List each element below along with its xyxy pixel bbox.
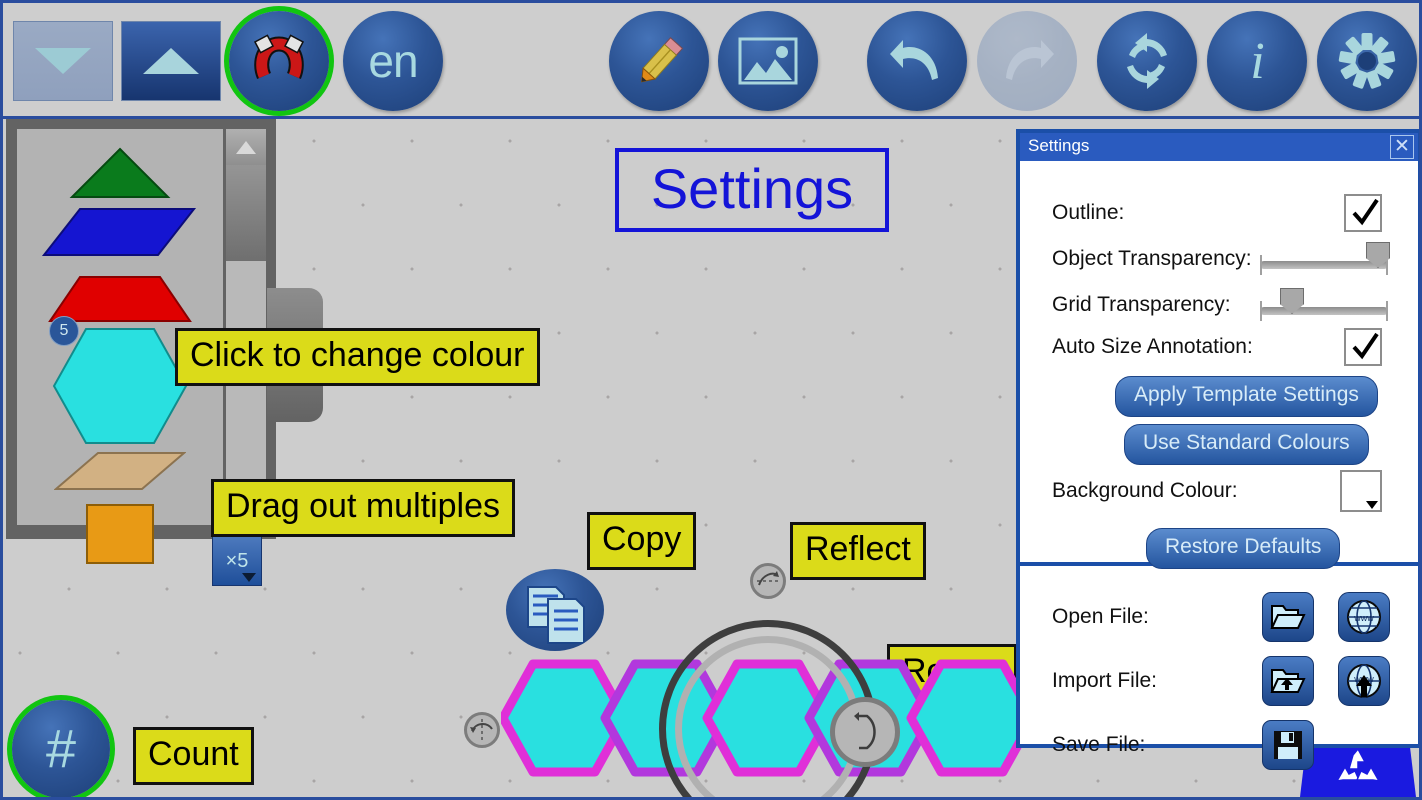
globe-upload-icon: www (1345, 662, 1383, 700)
svg-text:www: www (1353, 613, 1374, 623)
shape-count-badge[interactable]: 5 (49, 316, 79, 346)
shape-rhombus-tan[interactable] (17, 451, 223, 491)
shape-rhombus-blue[interactable] (17, 207, 223, 257)
chevron-down-icon (242, 573, 256, 582)
nav-up-button[interactable] (121, 21, 221, 101)
thin-rhombus-icon (54, 451, 186, 491)
settings-button[interactable] (1317, 11, 1417, 111)
folder-import-icon (1270, 666, 1306, 696)
settings-panel: Settings ✕ Outline: Object Transparency: (1016, 129, 1422, 748)
open-file-label: Open File: (1052, 605, 1149, 629)
multiplier-label: ×5 (226, 550, 249, 573)
hexagon-icon (52, 327, 188, 445)
count-button[interactable]: # (12, 700, 110, 798)
annotation-copy[interactable]: Copy (587, 512, 696, 570)
setting-row-background-colour: Background Colour: (1052, 471, 1404, 511)
floppy-disk-icon-button[interactable] (1262, 720, 1314, 770)
settings-title-label: Settings (1028, 136, 1089, 155)
redo-arrow-icon (998, 32, 1056, 90)
object-transparency-slider[interactable] (1260, 242, 1388, 276)
shape-trapezoid-red[interactable] (17, 275, 223, 323)
magnet-button[interactable] (229, 11, 329, 111)
copy-icon (506, 569, 604, 651)
settings-titlebar: Settings ✕ (1020, 133, 1418, 161)
shape-square-orange[interactable] (17, 503, 223, 565)
use-standard-colours-button[interactable]: Use Standard Colours (1124, 424, 1369, 465)
copy-button[interactable] (506, 569, 604, 651)
auto-size-annotation-label: Auto Size Annotation: (1052, 335, 1253, 359)
triangle-down-icon (35, 48, 91, 74)
globe-upload-icon-button[interactable]: www (1338, 656, 1390, 706)
background-colour-swatch[interactable] (1340, 470, 1382, 512)
application-window: en (0, 0, 1422, 800)
reflect-handle-top[interactable] (750, 563, 786, 599)
file-row-save: Save File: (1052, 720, 1404, 770)
grid-transparency-slider[interactable] (1260, 288, 1388, 322)
undo-button[interactable] (867, 11, 967, 111)
background-colour-label: Background Colour: (1052, 479, 1238, 503)
slider-tick-max (1386, 301, 1388, 321)
annotation-drag-multiples[interactable]: Drag out multiples (211, 479, 515, 537)
annotation-click-colour[interactable]: Click to change colour (175, 328, 540, 386)
scrollbar-thumb[interactable] (226, 165, 266, 261)
setting-row-grid-transparency: Grid Transparency: (1052, 285, 1404, 325)
restore-defaults-button[interactable]: Restore Defaults (1146, 528, 1340, 569)
magnet-icon (250, 32, 308, 90)
language-label: en (368, 34, 417, 88)
shape-palette-list (17, 129, 223, 525)
info-button[interactable]: i (1207, 11, 1307, 111)
reflect-handle-left[interactable] (464, 712, 500, 748)
reflect-arrow-icon (467, 715, 497, 745)
settings-body: Outline: Object Transparency: (1020, 161, 1418, 566)
image-icon (737, 35, 799, 87)
shape-triangle[interactable] (17, 147, 223, 199)
slider-track (1260, 261, 1388, 269)
square-icon (85, 503, 155, 565)
rhombus-icon (42, 207, 198, 257)
check-icon (1349, 197, 1381, 229)
trapezoid-icon (48, 275, 192, 323)
setting-row-auto-size-annotation: Auto Size Annotation: (1052, 327, 1404, 367)
slider-track (1260, 307, 1388, 315)
refresh-icon (1117, 31, 1177, 91)
info-label: i (1250, 32, 1263, 91)
setting-row-object-transparency: Object Transparency: (1052, 239, 1404, 279)
grid-transparency-label: Grid Transparency: (1052, 293, 1231, 317)
multiplier-button[interactable]: ×5 (212, 536, 262, 586)
save-file-label: Save File: (1052, 733, 1145, 757)
rotate-arrow-icon (845, 710, 885, 754)
nav-down-button[interactable] (13, 21, 113, 101)
rotate-handle[interactable] (830, 697, 900, 767)
outline-checkbox[interactable] (1344, 194, 1382, 232)
count-label: # (46, 718, 76, 780)
annotation-reflect[interactable]: Reflect (790, 522, 926, 580)
language-button[interactable]: en (343, 11, 443, 111)
image-button[interactable] (718, 11, 818, 111)
reflect-arrow-icon (753, 566, 783, 596)
apply-template-settings-button[interactable]: Apply Template Settings (1115, 376, 1378, 417)
setting-row-outline: Outline: (1052, 193, 1404, 233)
redo-button[interactable] (977, 11, 1077, 111)
slider-tick-min (1260, 255, 1262, 275)
object-transparency-label: Object Transparency: (1052, 247, 1252, 271)
slider-tick-min (1260, 301, 1262, 321)
floppy-disk-icon (1272, 729, 1304, 761)
undo-arrow-icon (888, 32, 946, 90)
triangle-icon (68, 147, 172, 199)
palette-scrollbar[interactable] (226, 129, 266, 525)
pencil-button[interactable] (609, 11, 709, 111)
globe-www-icon: www (1345, 598, 1383, 636)
folder-open-icon (1270, 602, 1306, 632)
pencil-icon (628, 30, 690, 92)
auto-size-annotation-checkbox[interactable] (1344, 328, 1382, 366)
file-row-import: Import File: www (1052, 656, 1404, 706)
chevron-up-icon (236, 141, 256, 154)
folder-open-icon-button[interactable] (1262, 592, 1314, 642)
check-icon (1349, 331, 1381, 363)
gear-burst-icon (1335, 29, 1399, 93)
globe-www-icon-button[interactable]: www (1338, 592, 1390, 642)
outline-label: Outline: (1052, 201, 1124, 225)
canvas-title-label[interactable]: Settings (615, 148, 889, 232)
import-file-label: Import File: (1052, 669, 1157, 693)
close-icon[interactable]: ✕ (1390, 135, 1414, 159)
refresh-button[interactable] (1097, 11, 1197, 111)
top-toolbar: en (3, 3, 1419, 119)
annotation-count[interactable]: Count (133, 727, 254, 785)
folder-import-icon-button[interactable] (1262, 656, 1314, 706)
scroll-up-button[interactable] (226, 129, 266, 165)
file-row-open: Open File: www (1052, 592, 1404, 642)
chevron-down-icon (1366, 501, 1378, 509)
triangle-up-icon (143, 48, 199, 74)
